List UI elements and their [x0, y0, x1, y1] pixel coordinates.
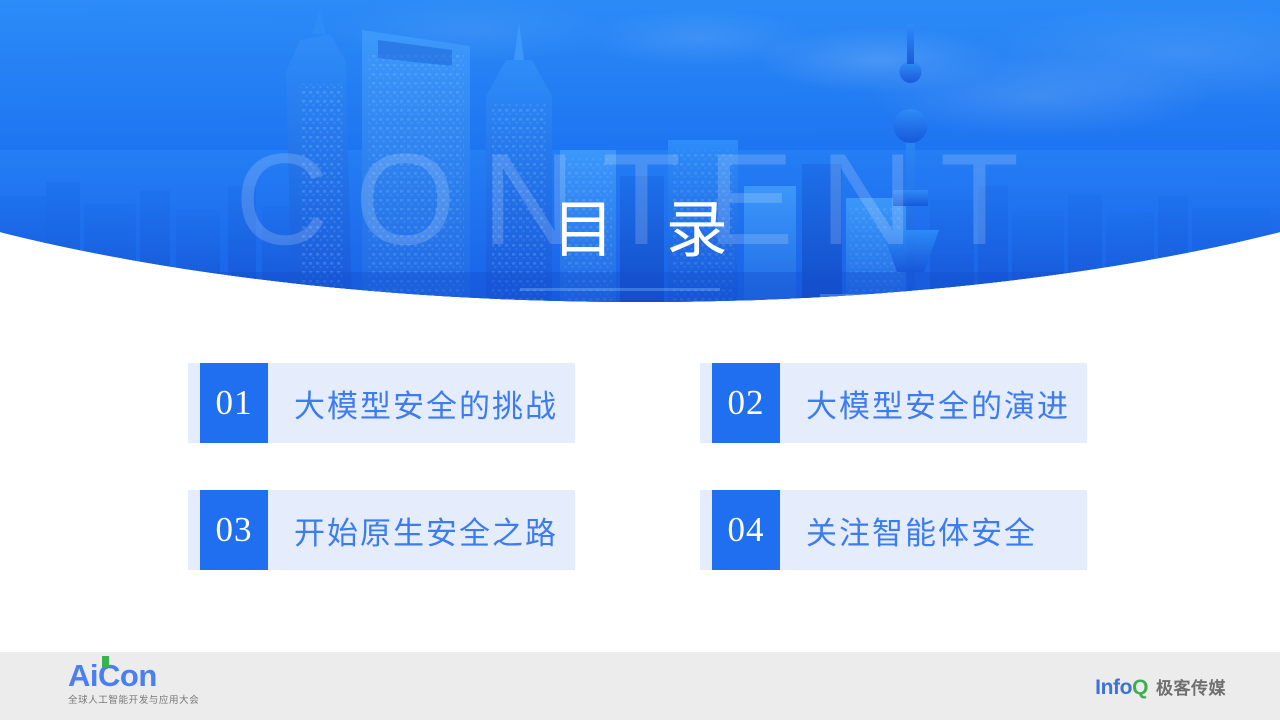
aicon-green-dot-icon [102, 656, 109, 667]
toc-number-badge: 01 [200, 363, 268, 443]
slide-footer: AiCon 全球人工智能开发与应用大会 Info Q 极客传媒 [0, 652, 1280, 720]
page-title: 目 录 [0, 200, 1280, 262]
aicon-logo: AiCon 全球人工智能开发与应用大会 [68, 660, 368, 706]
infoq-logo: Info Q 极客传媒 [1095, 674, 1226, 700]
presentation-slide: CONTENT 目 录 01 大模型安全的挑战 02 大模型安全的演进 03 开… [0, 0, 1280, 720]
toc-item-03[interactable]: 03 开始原生安全之路 [188, 490, 575, 570]
toc-item-label: 大模型安全的挑战 [294, 381, 558, 426]
infoq-q-text: Q [1132, 676, 1148, 700]
curved-banner-clip: CONTENT 目 录 [0, 0, 1280, 310]
infoq-chinese-name: 极客传媒 [1156, 674, 1226, 699]
aicon-tagline: 全球人工智能开发与应用大会 [68, 696, 368, 706]
toc-item-01[interactable]: 01 大模型安全的挑战 [188, 363, 575, 443]
toc-item-label: 大模型安全的演进 [806, 381, 1070, 426]
aicon-wordmark: AiCon [68, 660, 157, 691]
toc-number-badge: 04 [712, 490, 780, 570]
toc-number-badge: 02 [712, 363, 780, 443]
table-of-contents: 01 大模型安全的挑战 02 大模型安全的演进 03 开始原生安全之路 04 关… [188, 363, 1088, 571]
toc-number-badge: 03 [200, 490, 268, 570]
aicon-wordmark-text: AiCon [68, 658, 157, 693]
infoq-info-text: Info [1095, 676, 1132, 700]
toc-item-02[interactable]: 02 大模型安全的演进 [700, 363, 1087, 443]
toc-item-label: 开始原生安全之路 [294, 508, 558, 553]
toc-item-04[interactable]: 04 关注智能体安全 [700, 490, 1087, 570]
toc-item-label: 关注智能体安全 [806, 508, 1037, 553]
slide-header-banner: CONTENT 目 录 [0, 0, 1280, 310]
